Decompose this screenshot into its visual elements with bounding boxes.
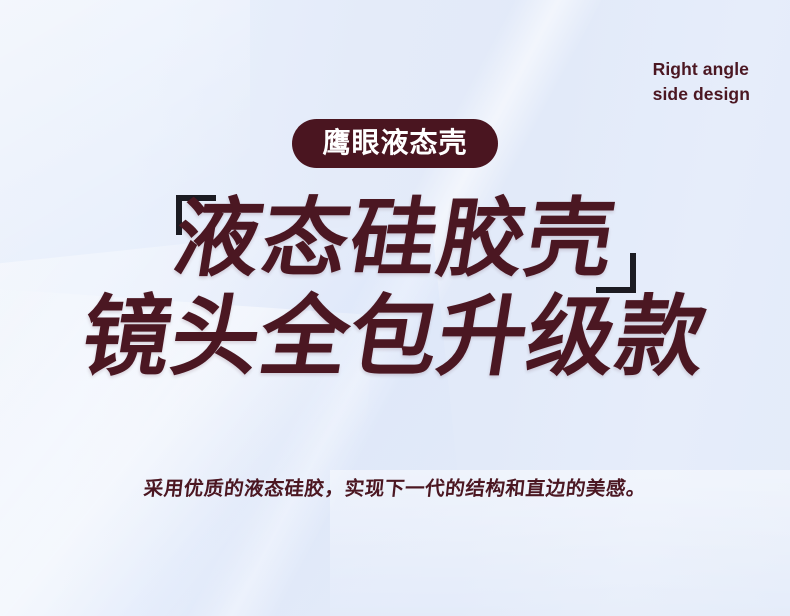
divider-container [0, 428, 790, 446]
headline-row-1: 液态硅胶壳 [0, 190, 790, 288]
badge-container: 鹰眼液态壳 [0, 119, 790, 168]
promo-banner: Right angle side design 鹰眼液态壳 液态硅胶壳 镜头全包… [0, 0, 790, 616]
subtitle-text: 采用优质的液态硅胶，实现下一代的结构和直边的美感。 [142, 472, 648, 501]
headline-line-1: 液态硅胶壳 [167, 190, 623, 288]
product-badge: 鹰眼液态壳 [292, 119, 497, 168]
headline-block: 液态硅胶壳 镜头全包升级款 [0, 190, 790, 386]
eyebrow-line-2: side design [653, 82, 750, 107]
eyebrow-line-1: Right angle [653, 57, 750, 82]
headline-row-2: 镜头全包升级款 [0, 288, 790, 386]
headline-line-2: 镜头全包升级款 [76, 288, 715, 386]
subtitle-container: 采用优质的液态硅胶，实现下一代的结构和直边的美感。 [0, 472, 790, 501]
eyebrow-text: Right angle side design [653, 57, 750, 107]
